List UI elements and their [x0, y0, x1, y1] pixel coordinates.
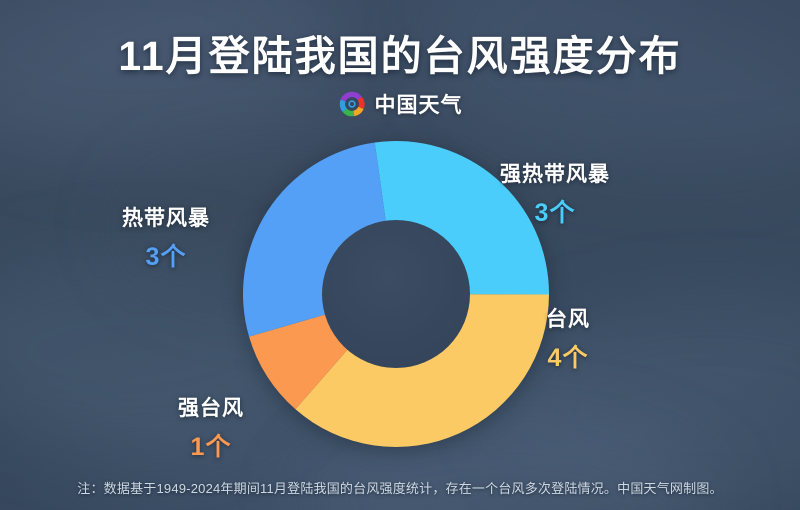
slice-label-name: 热带风暴	[122, 202, 210, 232]
slice-label-strong-tropical-storm: 强热带风暴 3个	[500, 158, 610, 229]
slice-label-name: 强台风	[178, 392, 244, 422]
slice-label-strong-typhoon: 强台风 1个	[178, 392, 244, 463]
brand-row: 中国天气	[0, 89, 800, 119]
slice-label-name: 强热带风暴	[500, 158, 610, 188]
slice-label-tropical-storm: 热带风暴 3个	[122, 202, 210, 273]
slice-label-value: 3个	[122, 237, 210, 273]
page-title: 11月登陆我国的台风强度分布	[0, 22, 800, 82]
infographic-canvas: 11月登陆我国的台风强度分布 中国天	[0, 0, 800, 510]
donut-center-hole	[322, 220, 470, 368]
slice-label-value: 3个	[500, 193, 610, 229]
slice-label-value: 4个	[546, 338, 590, 374]
weather-swirl-logo-icon	[338, 90, 366, 118]
brand-name: 中国天气	[375, 89, 463, 119]
slice-label-name: 台风	[546, 303, 590, 333]
footer-note: 注：数据基于1949-2024年期间11月登陆我国的台风强度统计，存在一个台风多…	[0, 478, 800, 497]
slice-label-typhoon: 台风 4个	[546, 303, 590, 374]
slice-label-value: 1个	[178, 427, 244, 463]
